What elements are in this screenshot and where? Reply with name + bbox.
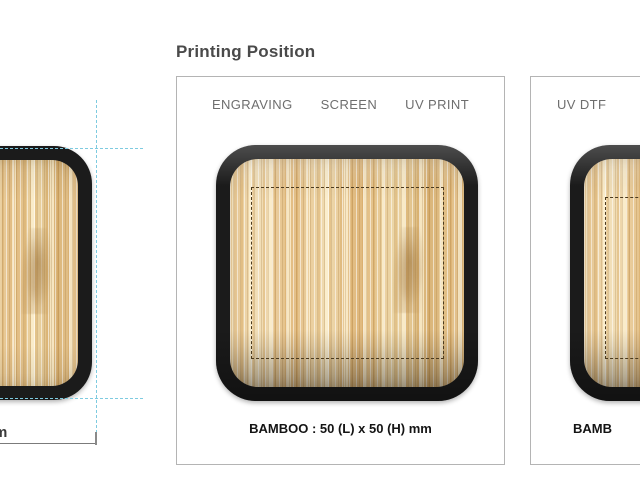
surface-shading bbox=[0, 160, 78, 386]
print-area-dashed-secondary bbox=[605, 197, 640, 359]
method-label-screen: SCREEN bbox=[321, 97, 378, 112]
page-title: Printing Position bbox=[176, 42, 315, 62]
dimension-label: m bbox=[0, 424, 7, 441]
bamboo-surface bbox=[0, 160, 78, 386]
product-left-partial bbox=[0, 146, 92, 400]
dimension-line bbox=[0, 443, 96, 444]
method-label-uv-print: UV PRINT bbox=[405, 97, 469, 112]
panel-caption-secondary: BAMB bbox=[531, 421, 640, 436]
print-area-dashed-main bbox=[251, 187, 444, 359]
panel-caption-main: BAMBOO : 50 (L) x 50 (H) mm bbox=[177, 421, 504, 436]
method-label-row: UV DTF bbox=[531, 97, 640, 112]
artboard: m Printing Position ENGRAVING SCREEN UV … bbox=[0, 0, 640, 480]
method-label-uv-dtf: UV DTF bbox=[557, 97, 606, 112]
guide-line-horizontal-top bbox=[0, 148, 143, 149]
guide-line-horizontal-bottom bbox=[0, 398, 143, 399]
dimension-tick bbox=[95, 432, 97, 445]
method-label-engraving: ENGRAVING bbox=[212, 97, 293, 112]
method-label-row: ENGRAVING SCREEN UV PRINT bbox=[177, 97, 504, 112]
guide-line-vertical bbox=[96, 100, 97, 443]
